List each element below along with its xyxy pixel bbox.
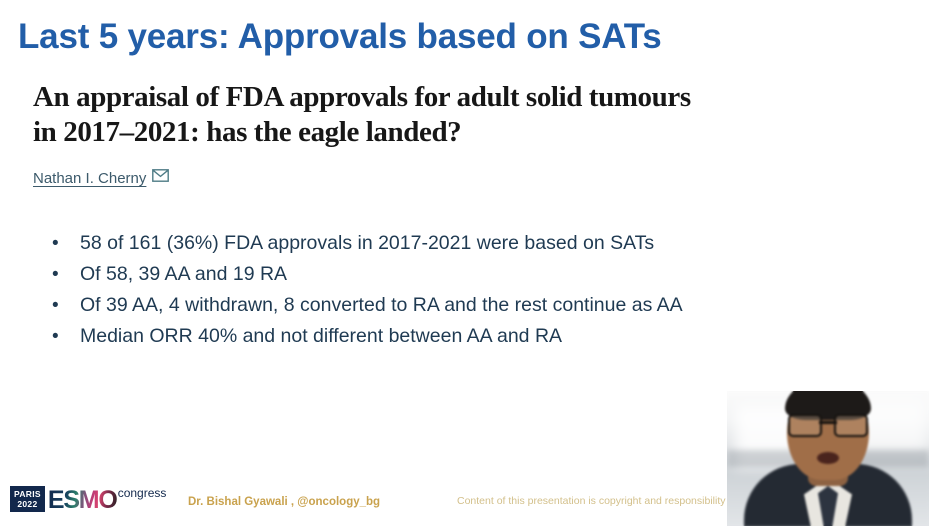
list-item-text: Median ORR 40% and not different between… (80, 321, 872, 352)
congress-wordmark: congress (118, 487, 167, 499)
paper-header-block: An appraisal of FDA approvals for adult … (33, 80, 833, 187)
list-item: • Of 39 AA, 4 withdrawn, 8 converted to … (52, 290, 872, 321)
presenter-credit: Dr. Bishal Gyawali , @oncology_bg (188, 496, 380, 508)
glasses-bridge (819, 421, 837, 424)
paper-title-line-2: in 2017–2021: has the eagle landed? (33, 115, 833, 150)
list-item: • 58 of 161 (36%) FDA approvals in 2017-… (52, 228, 872, 259)
glasses-lens-left (788, 414, 822, 437)
slide-title: Last 5 years: Approvals based on SATs (18, 16, 898, 58)
speaker-video-overlay[interactable] (727, 391, 929, 526)
bullet-marker: • (52, 228, 80, 259)
bullet-marker: • (52, 290, 80, 321)
eyeglasses-icon (788, 414, 868, 434)
list-item: • Median ORR 40% and not different betwe… (52, 321, 872, 352)
esmo-wordmark-group: ESMOcongress (48, 488, 167, 512)
presentation-slide: Last 5 years: Approvals based on SATs An… (0, 0, 929, 526)
paris-2022-badge: PARIS 2022 (10, 486, 45, 512)
glasses-lens-right (834, 414, 868, 437)
badge-year: 2022 (14, 499, 41, 509)
envelope-icon[interactable] (152, 169, 169, 182)
paper-title: An appraisal of FDA approvals for adult … (33, 80, 833, 150)
bullet-marker: • (52, 321, 80, 352)
copyright-note: Content of this presentation is copyrigh… (457, 495, 734, 507)
speaker-mouth (817, 452, 839, 464)
paper-author-row: Nathan I. Cherny (33, 170, 833, 187)
esmo-wordmark: ESMO (48, 488, 117, 512)
speaker-figure (743, 430, 913, 526)
list-item-text: 58 of 161 (36%) FDA approvals in 2017-20… (80, 228, 872, 259)
badge-city: PARIS (14, 489, 41, 499)
author-name-link[interactable]: Nathan I. Cherny (33, 170, 146, 187)
bullet-marker: • (52, 259, 80, 290)
key-findings-list: • 58 of 161 (36%) FDA approvals in 2017-… (52, 228, 872, 352)
paper-title-line-1: An appraisal of FDA approvals for adult … (33, 80, 833, 115)
list-item: • Of 58, 39 AA and 19 RA (52, 259, 872, 290)
list-item-text: Of 58, 39 AA and 19 RA (80, 259, 872, 290)
esmo-congress-logo: PARIS 2022 ESMOcongress (10, 486, 166, 512)
list-item-text: Of 39 AA, 4 withdrawn, 8 converted to RA… (80, 290, 872, 321)
